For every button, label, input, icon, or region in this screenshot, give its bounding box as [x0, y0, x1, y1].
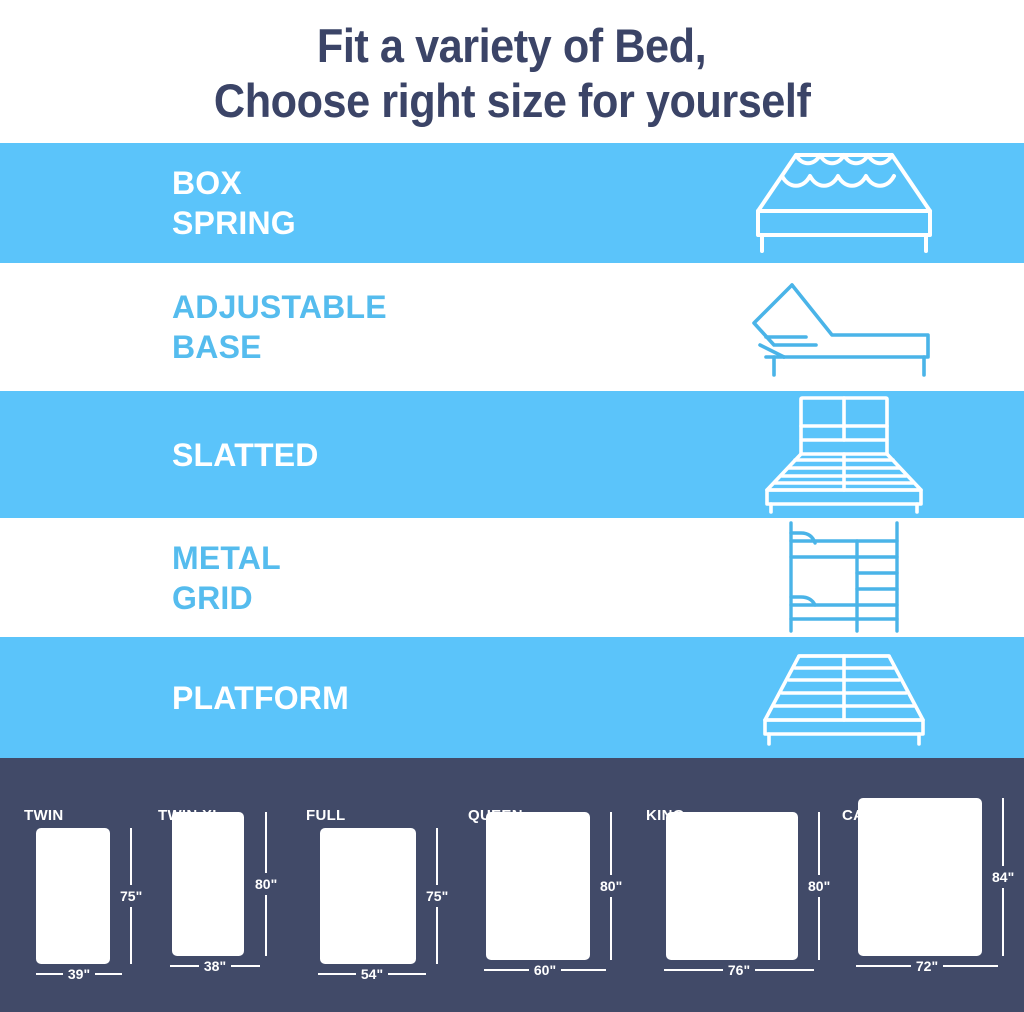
dimension-line — [130, 828, 132, 885]
width-dimension: 39" — [36, 966, 122, 982]
dimension-line — [95, 973, 122, 975]
dimension-line — [436, 828, 438, 885]
page-title: Fit a variety of Bed, Choose right size … — [0, 0, 1024, 143]
adjustable-base-icon — [664, 263, 1024, 391]
mattress-size-full[interactable]: FULL 75" 54" — [306, 785, 468, 990]
width-dimension: 54" — [318, 966, 426, 982]
dimension-line — [1002, 798, 1004, 866]
bed-type-row-box-spring[interactable]: BOX SPRING — [0, 143, 1024, 263]
dimension-line — [818, 812, 820, 875]
title-line-2: Choose right size for yourself — [214, 73, 810, 128]
dimension-line — [664, 969, 723, 971]
dimension-line — [231, 965, 260, 967]
height-value: 84" — [992, 866, 1014, 888]
bed-type-row-platform[interactable]: PLATFORM — [0, 637, 1024, 758]
mattress-rect — [486, 812, 590, 960]
bed-type-label: BOX SPRING — [172, 163, 296, 243]
height-dimension: 80" — [255, 812, 277, 956]
dimension-line — [170, 965, 199, 967]
dimension-line — [561, 969, 606, 971]
height-value: 80" — [808, 875, 830, 897]
height-value: 75" — [120, 885, 142, 907]
dimension-line — [1002, 888, 1004, 956]
bed-type-label: ADJUSTABLE BASE — [172, 287, 387, 367]
width-value: 54" — [356, 966, 388, 982]
height-dimension: 75" — [426, 828, 448, 964]
bed-type-label: PLATFORM — [172, 678, 349, 718]
height-dimension: 80" — [808, 812, 830, 960]
title-line-1: Fit a variety of Bed, — [317, 18, 706, 73]
slatted-bed-icon — [664, 391, 1024, 518]
width-value: 38" — [199, 958, 231, 974]
dimension-line — [818, 897, 820, 960]
mattress-size-twin[interactable]: TWIN 75" 39" — [24, 785, 158, 990]
dimension-line — [484, 969, 529, 971]
bed-type-row-slatted[interactable]: SLATTED — [0, 391, 1024, 518]
dimension-line — [436, 907, 438, 964]
height-value: 80" — [600, 875, 622, 897]
width-value: 60" — [529, 962, 561, 978]
bed-type-label: METAL GRID — [172, 538, 281, 618]
dimension-line — [755, 969, 814, 971]
bed-type-label: SLATTED — [172, 435, 319, 475]
bed-type-row-adjustable-base[interactable]: ADJUSTABLE BASE — [0, 263, 1024, 391]
dimension-line — [388, 973, 426, 975]
metal-grid-bunk-icon — [664, 518, 1024, 637]
mattress-size-king[interactable]: KING 80" 76" — [646, 785, 842, 990]
dimension-line — [943, 965, 998, 967]
bed-type-row-metal-grid[interactable]: METAL GRID — [0, 518, 1024, 637]
dimension-line — [265, 812, 267, 873]
dimension-line — [610, 897, 612, 960]
dimension-line — [130, 907, 132, 964]
mattress-rect — [858, 798, 982, 956]
mattress-sizes-panel: TWIN 75" 39" TWIN XL — [0, 758, 1024, 1012]
mattress-size-california-king[interactable]: CALIFORNIA KING 84" 72" — [842, 785, 1016, 990]
dimension-line — [36, 973, 63, 975]
height-dimension: 75" — [120, 828, 142, 964]
height-dimension: 84" — [992, 798, 1014, 956]
mattress-rect — [36, 828, 110, 964]
mattress-size-label: TWIN — [24, 807, 64, 824]
mattress-size-queen[interactable]: QUEEN 80" 60" — [468, 785, 646, 990]
dimension-line — [318, 973, 356, 975]
mattress-size-twin-xl[interactable]: TWIN XL 80" 38" — [158, 785, 306, 990]
height-value: 80" — [255, 873, 277, 895]
mattress-sizes-strip: TWIN 75" 39" TWIN XL — [0, 758, 1024, 990]
box-spring-icon — [664, 143, 1024, 263]
mattress-rect — [666, 812, 798, 960]
dimension-line — [856, 965, 911, 967]
dimension-line — [610, 812, 612, 875]
width-value: 72" — [911, 958, 943, 974]
width-dimension: 38" — [170, 958, 260, 974]
mattress-rect — [320, 828, 416, 964]
dimension-line — [265, 895, 267, 956]
platform-bed-icon — [664, 637, 1024, 758]
bed-type-list: BOX SPRING ADJUSTABLE BASE — [0, 143, 1024, 758]
height-value: 75" — [426, 885, 448, 907]
width-value: 76" — [723, 962, 755, 978]
width-dimension: 76" — [664, 962, 814, 978]
width-dimension: 60" — [484, 962, 606, 978]
width-value: 39" — [63, 966, 95, 982]
mattress-rect — [172, 812, 244, 956]
width-dimension: 72" — [856, 958, 998, 974]
mattress-size-label: FULL — [306, 807, 346, 824]
height-dimension: 80" — [600, 812, 622, 960]
